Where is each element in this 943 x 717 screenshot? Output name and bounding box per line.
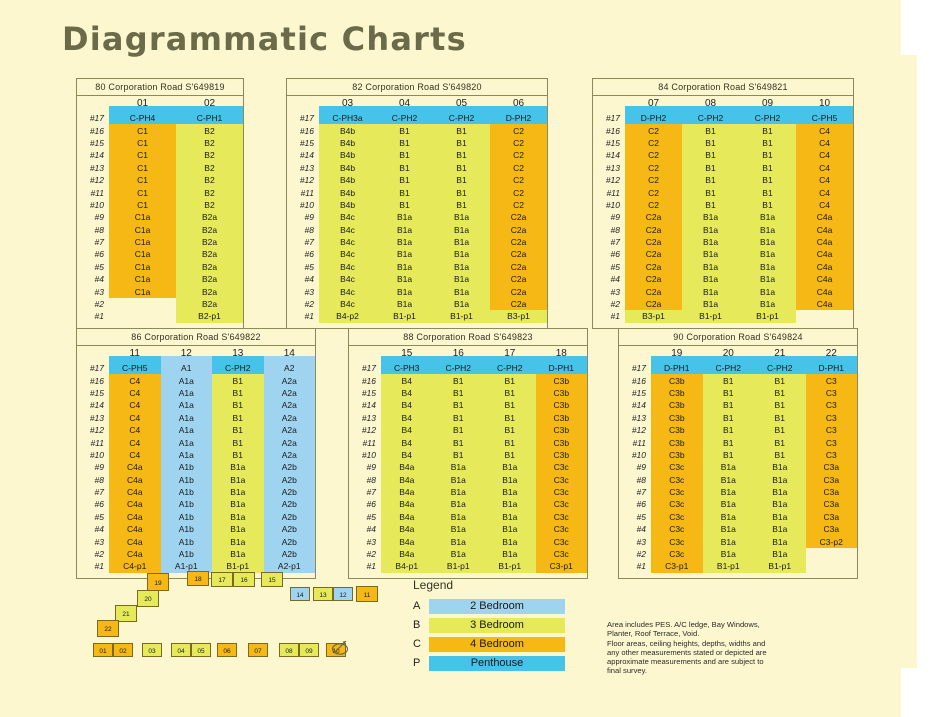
unit-cell[interactable]: B1a [682,236,739,248]
unit-cell[interactable]: B1 [484,375,536,387]
unit-cell[interactable]: A2b [264,536,316,548]
unit-cell[interactable]: B1a [682,286,739,298]
unit-cell[interactable]: B1a [376,236,433,248]
unit-cell[interactable]: B1-p1 [703,560,755,572]
unit-cell[interactable]: B1a [754,461,806,473]
unit-cell[interactable]: C3a [806,461,858,473]
unit-cell[interactable]: B2 [176,162,243,174]
unit-cell[interactable]: B4a [381,461,433,473]
unit-cell[interactable]: C1a [109,236,176,248]
unit-cell[interactable]: C2 [625,199,682,211]
unit-cell[interactable]: B1a [754,548,806,560]
unit-cell[interactable]: B1a [703,461,755,473]
unit-cell[interactable]: C4a [109,474,161,486]
unit-cell[interactable]: C2 [625,149,682,161]
unit-cell[interactable]: B1 [754,387,806,399]
unit-cell[interactable]: B4c [319,273,376,285]
unit-cell[interactable]: B1a [703,474,755,486]
unit-cell[interactable]: B1a [739,298,796,310]
unit-cell[interactable]: C4a [109,548,161,560]
unit-cell[interactable]: B1 [433,137,490,149]
unit-cell[interactable]: B1 [433,424,485,436]
unit-cell[interactable]: B4c [319,211,376,223]
site-plan-unit-17[interactable]: 17 [211,572,233,587]
unit-cell[interactable]: A1a [161,437,213,449]
unit-cell[interactable]: B4c [319,248,376,260]
unit-cell[interactable]: B1a [212,486,264,498]
unit-cell[interactable]: C4 [109,375,161,387]
unit-cell[interactable]: B1a [433,286,490,298]
unit-cell[interactable]: C4a [796,286,853,298]
unit-cell[interactable]: B1a [433,224,490,236]
unit-cell[interactable]: C2 [490,199,547,211]
unit-cell[interactable]: C3c [651,548,703,560]
unit-cell[interactable]: C4a [796,236,853,248]
unit-cell[interactable]: B1a [682,273,739,285]
unit-cell[interactable]: B1 [433,199,490,211]
unit-cell[interactable]: B1a [212,536,264,548]
unit-cell[interactable]: B1 [376,187,433,199]
unit-cell[interactable]: A1b [161,474,213,486]
unit-cell[interactable]: C3a [806,511,858,523]
unit-cell[interactable]: B4b [319,199,376,211]
unit-cell[interactable]: C4 [796,174,853,186]
site-plan-unit-04[interactable]: 04 [171,643,191,657]
unit-cell[interactable]: C2 [490,125,547,137]
unit-cell[interactable]: B1-p1 [376,310,433,322]
unit-cell[interactable]: B1a [484,548,536,560]
site-plan-unit-20[interactable]: 20 [137,590,159,607]
unit-cell[interactable]: B1-p1 [682,310,739,322]
unit-cell[interactable]: B1a [682,211,739,223]
unit-cell[interactable]: A2a [264,387,316,399]
unit-cell[interactable]: C4a [796,273,853,285]
unit-cell[interactable]: D-PH1 [651,362,703,374]
unit-cell[interactable]: A2-p1 [264,560,316,572]
unit-cell[interactable]: C3c [536,474,588,486]
unit-cell[interactable]: B4b [319,187,376,199]
unit-cell[interactable]: B1a [433,548,485,560]
unit-cell[interactable]: B1 [484,399,536,411]
unit-cell[interactable]: B1 [682,187,739,199]
unit-cell[interactable]: B1 [754,399,806,411]
unit-cell[interactable]: C4 [109,399,161,411]
unit-cell[interactable]: A2b [264,523,316,535]
unit-cell[interactable]: B1a [682,224,739,236]
unit-cell[interactable]: B1a [703,548,755,560]
unit-cell[interactable]: C2a [490,236,547,248]
site-plan-unit-07[interactable]: 07 [248,643,268,657]
unit-cell[interactable]: C4a [109,523,161,535]
unit-cell[interactable]: B2 [176,149,243,161]
unit-cell[interactable]: B1-p1 [739,310,796,322]
unit-cell[interactable]: A1a [161,449,213,461]
unit-cell[interactable]: B1a [212,523,264,535]
unit-cell[interactable]: B2 [176,137,243,149]
unit-cell[interactable]: B4-p2 [319,310,376,322]
unit-cell[interactable]: C4 [796,137,853,149]
unit-cell[interactable]: C-PH2 [376,112,433,124]
site-plan-unit-18[interactable]: 18 [187,571,209,586]
unit-cell[interactable]: B1a [739,248,796,260]
unit-cell[interactable]: C3b [536,424,588,436]
unit-cell[interactable]: B1a [739,224,796,236]
unit-cell[interactable]: C1a [109,248,176,260]
unit-cell[interactable]: B1 [212,387,264,399]
unit-cell[interactable]: B1 [212,375,264,387]
unit-cell[interactable]: C2a [625,211,682,223]
unit-cell[interactable]: A1a [161,399,213,411]
unit-cell[interactable]: C-PH2 [682,112,739,124]
unit-cell[interactable]: B1-p1 [433,560,485,572]
unit-cell[interactable]: B2 [176,187,243,199]
unit-cell[interactable]: B1a [433,498,485,510]
unit-cell[interactable]: B2a [176,224,243,236]
unit-cell[interactable]: B4-p1 [381,560,433,572]
unit-cell[interactable]: A1a [161,424,213,436]
unit-cell[interactable]: A2a [264,424,316,436]
unit-cell[interactable]: B1 [212,424,264,436]
unit-cell[interactable]: C-PH4 [109,112,176,124]
unit-cell[interactable]: C4a [796,211,853,223]
unit-cell[interactable]: C3-p1 [651,560,703,572]
unit-cell[interactable]: B1 [433,125,490,137]
unit-cell[interactable]: B2 [176,125,243,137]
unit-cell[interactable]: C3 [806,424,858,436]
unit-cell[interactable]: C-PH2 [739,112,796,124]
unit-cell[interactable]: C-PH5 [796,112,853,124]
unit-cell[interactable]: B1a [754,523,806,535]
unit-cell[interactable]: B1a [376,286,433,298]
unit-cell[interactable]: B1a [703,486,755,498]
site-plan-unit-11[interactable]: 11 [356,586,378,602]
unit-cell[interactable]: A2b [264,511,316,523]
unit-cell[interactable]: B1a [754,511,806,523]
unit-cell[interactable]: C3c [651,486,703,498]
unit-cell[interactable]: C3b [651,437,703,449]
unit-cell[interactable]: B4 [381,449,433,461]
unit-cell[interactable]: B2 [176,174,243,186]
unit-cell[interactable]: B1a [433,236,490,248]
unit-cell[interactable]: B1 [754,412,806,424]
unit-cell[interactable]: B2a [176,286,243,298]
unit-cell[interactable]: C-PH5 [109,362,161,374]
unit-cell[interactable]: B4a [381,548,433,560]
unit-cell[interactable]: B4 [381,375,433,387]
unit-cell[interactable]: C3c [651,536,703,548]
unit-cell[interactable]: B4b [319,149,376,161]
unit-cell[interactable]: C1a [109,286,176,298]
unit-cell[interactable]: B1 [212,437,264,449]
unit-cell[interactable]: B1a [212,498,264,510]
unit-cell[interactable]: C2a [625,224,682,236]
unit-cell[interactable]: B1a [739,211,796,223]
unit-cell[interactable]: B4a [381,498,433,510]
unit-cell[interactable]: B4c [319,261,376,273]
unit-cell[interactable]: B1 [433,187,490,199]
unit-cell[interactable]: C2a [490,248,547,260]
unit-cell[interactable]: C3 [806,375,858,387]
unit-cell[interactable]: C1 [109,137,176,149]
unit-cell[interactable]: C1a [109,261,176,273]
unit-cell[interactable]: B1 [376,199,433,211]
unit-cell[interactable]: C-PH2 [484,362,536,374]
unit-cell[interactable]: A1b [161,523,213,535]
unit-cell[interactable]: B1 [433,399,485,411]
unit-cell[interactable]: B4a [381,474,433,486]
unit-cell[interactable]: B1a [212,461,264,473]
unit-cell[interactable]: C-PH3a [319,112,376,124]
unit-cell[interactable]: C-PH2 [433,362,485,374]
unit-cell[interactable]: B1a [703,511,755,523]
unit-cell[interactable]: C3b [651,375,703,387]
unit-cell[interactable]: C2a [625,248,682,260]
unit-cell[interactable]: B1 [484,424,536,436]
unit-cell[interactable]: B1 [433,387,485,399]
unit-cell[interactable]: B4c [319,236,376,248]
unit-cell[interactable]: B1-p1 [212,560,264,572]
unit-cell[interactable]: C4 [109,424,161,436]
unit-cell[interactable]: C1 [109,187,176,199]
unit-cell[interactable]: C2a [625,286,682,298]
unit-cell[interactable]: B2-p1 [176,310,243,322]
unit-cell[interactable]: B1a [739,261,796,273]
unit-cell[interactable]: B1 [212,449,264,461]
unit-cell[interactable]: B1 [376,137,433,149]
unit-cell[interactable]: B3-p1 [490,310,547,322]
unit-cell[interactable]: B1 [682,137,739,149]
site-plan-unit-14[interactable]: 14 [290,587,310,601]
site-plan-unit-13[interactable]: 13 [313,587,333,601]
unit-cell[interactable]: C3b [536,437,588,449]
unit-cell[interactable]: B1 [703,449,755,461]
unit-cell[interactable]: B1a [433,486,485,498]
site-plan-unit-06[interactable]: 06 [217,643,237,657]
unit-cell[interactable]: C4 [109,387,161,399]
unit-cell[interactable]: B1a [433,211,490,223]
unit-cell[interactable]: B1 [739,174,796,186]
site-plan-unit-22[interactable]: 22 [97,620,119,637]
unit-cell[interactable]: C4a [109,498,161,510]
unit-cell[interactable]: C1a [109,273,176,285]
unit-cell[interactable]: A2b [264,461,316,473]
unit-cell[interactable]: B1a [433,273,490,285]
unit-cell[interactable]: B1 [433,449,485,461]
unit-cell[interactable]: B1 [703,399,755,411]
unit-cell[interactable]: C3c [651,461,703,473]
unit-cell[interactable]: A2a [264,375,316,387]
unit-cell[interactable]: C3 [806,399,858,411]
unit-cell[interactable]: C3a [806,474,858,486]
unit-cell[interactable]: C4a [109,461,161,473]
unit-cell[interactable]: B1a [484,536,536,548]
unit-cell[interactable]: A2a [264,412,316,424]
unit-cell[interactable]: C2a [490,211,547,223]
unit-cell[interactable]: B2a [176,261,243,273]
unit-cell[interactable]: A2a [264,449,316,461]
unit-cell[interactable]: C-PH3 [381,362,433,374]
unit-cell[interactable]: C4a [109,511,161,523]
unit-cell[interactable]: A1a [161,375,213,387]
unit-cell[interactable]: B1 [682,199,739,211]
unit-cell[interactable]: C4a [796,261,853,273]
unit-cell[interactable]: C4a [109,486,161,498]
unit-cell[interactable]: B1 [484,412,536,424]
unit-cell[interactable]: B4b [319,162,376,174]
unit-cell[interactable]: B4a [381,523,433,535]
unit-cell[interactable]: C2a [625,261,682,273]
unit-cell[interactable]: C4 [796,199,853,211]
unit-cell[interactable]: B1 [484,437,536,449]
unit-cell[interactable]: A2b [264,498,316,510]
unit-cell[interactable]: C2a [490,286,547,298]
unit-cell[interactable]: C3-p1 [536,560,588,572]
unit-cell[interactable]: C2 [625,174,682,186]
unit-cell[interactable]: C2 [490,187,547,199]
unit-cell[interactable]: C3c [536,536,588,548]
unit-cell[interactable]: C1a [109,211,176,223]
unit-cell[interactable]: B1a [376,248,433,260]
unit-cell[interactable]: C4 [109,449,161,461]
unit-cell[interactable]: B1 [703,437,755,449]
unit-cell[interactable]: A1-p1 [161,560,213,572]
unit-cell[interactable]: B1a [703,523,755,535]
unit-cell[interactable]: A1b [161,461,213,473]
unit-cell[interactable]: B1 [212,399,264,411]
unit-cell[interactable]: C4 [796,149,853,161]
unit-cell[interactable]: B1 [484,387,536,399]
unit-cell[interactable]: C3a [806,523,858,535]
unit-cell[interactable]: C2a [625,298,682,310]
unit-cell[interactable]: C2a [490,273,547,285]
unit-cell[interactable]: C4 [796,162,853,174]
unit-cell[interactable]: C3c [536,511,588,523]
unit-cell[interactable]: B4b [319,125,376,137]
unit-cell[interactable]: C3c [536,486,588,498]
unit-cell[interactable]: B4b [319,174,376,186]
unit-cell[interactable]: B1 [484,449,536,461]
unit-cell[interactable]: B1 [682,125,739,137]
unit-cell[interactable]: C3b [536,412,588,424]
unit-cell[interactable]: B2a [176,236,243,248]
unit-cell[interactable]: C3-p2 [806,536,858,548]
unit-cell[interactable]: B1a [433,298,490,310]
unit-cell[interactable]: C3b [651,424,703,436]
unit-cell[interactable]: B1a [376,273,433,285]
unit-cell[interactable]: C-PH2 [703,362,755,374]
unit-cell[interactable]: A2b [264,474,316,486]
unit-cell[interactable]: B1a [754,474,806,486]
unit-cell[interactable]: C3c [536,461,588,473]
unit-cell[interactable]: B4c [319,298,376,310]
unit-cell[interactable]: B4 [381,437,433,449]
site-plan-unit-09[interactable]: 09 [299,643,319,657]
unit-cell[interactable]: B1a [703,498,755,510]
unit-cell[interactable]: C3a [806,498,858,510]
unit-cell[interactable]: B1 [754,424,806,436]
site-plan-unit-12[interactable]: 12 [333,587,353,601]
unit-cell[interactable]: C3c [651,498,703,510]
unit-cell[interactable]: D-PH1 [536,362,588,374]
unit-cell[interactable]: B3-p1 [625,310,682,322]
unit-cell[interactable]: B1a [433,248,490,260]
unit-cell[interactable]: B4a [381,511,433,523]
unit-cell[interactable]: B1a [682,248,739,260]
unit-cell[interactable]: C3a [806,486,858,498]
unit-cell[interactable]: B1 [739,125,796,137]
unit-cell[interactable]: B4b [319,137,376,149]
unit-cell[interactable]: B2a [176,211,243,223]
unit-cell[interactable]: B4 [381,412,433,424]
unit-cell[interactable]: D-PH1 [806,362,858,374]
unit-cell[interactable]: A2a [264,399,316,411]
unit-cell[interactable]: B1a [484,511,536,523]
unit-cell[interactable]: B1 [376,149,433,161]
unit-cell[interactable]: B1a [433,461,485,473]
unit-cell[interactable]: B2 [176,199,243,211]
unit-cell[interactable]: C4 [796,125,853,137]
unit-cell[interactable]: A1b [161,536,213,548]
unit-cell[interactable]: C4 [109,412,161,424]
unit-cell[interactable]: B1 [754,375,806,387]
unit-cell[interactable]: B4a [381,486,433,498]
unit-cell[interactable]: B1a [376,224,433,236]
unit-cell[interactable]: B4c [319,224,376,236]
unit-cell[interactable]: B1a [212,511,264,523]
unit-cell[interactable]: C3b [651,399,703,411]
unit-cell[interactable]: B1a [754,498,806,510]
unit-cell[interactable]: A1b [161,511,213,523]
unit-cell[interactable]: C4a [796,248,853,260]
site-plan-unit-15[interactable]: 15 [261,572,283,587]
unit-cell[interactable]: C4a [109,536,161,548]
unit-cell[interactable]: B1 [376,174,433,186]
site-plan-unit-01[interactable]: 01 [93,643,113,657]
unit-cell[interactable]: D-PH2 [490,112,547,124]
unit-cell[interactable]: B1a [376,211,433,223]
unit-cell[interactable]: C3c [536,523,588,535]
unit-cell[interactable]: B1a [703,536,755,548]
unit-cell[interactable]: C1 [109,199,176,211]
unit-cell[interactable]: C3b [536,375,588,387]
unit-cell[interactable]: B1 [433,412,485,424]
unit-cell[interactable]: B1a [376,298,433,310]
unit-cell[interactable]: B1a [484,523,536,535]
unit-cell[interactable]: B2a [176,298,243,310]
unit-cell[interactable]: B1a [433,511,485,523]
unit-cell[interactable]: C2 [625,187,682,199]
unit-cell[interactable]: A1b [161,498,213,510]
unit-cell[interactable]: B1 [682,162,739,174]
unit-cell[interactable]: B1 [754,449,806,461]
unit-cell[interactable]: C3c [536,548,588,560]
unit-cell[interactable]: B1a [376,261,433,273]
unit-cell[interactable]: C2 [490,162,547,174]
unit-cell[interactable]: B1 [682,149,739,161]
site-plan-unit-05[interactable]: 05 [191,643,211,657]
unit-cell[interactable]: A1a [161,387,213,399]
unit-cell[interactable]: C3c [536,498,588,510]
unit-cell[interactable]: C3c [651,474,703,486]
unit-cell[interactable]: B2a [176,273,243,285]
unit-cell[interactable]: B1 [376,125,433,137]
unit-cell[interactable]: B1 [433,162,490,174]
unit-cell[interactable]: C1a [109,224,176,236]
unit-cell[interactable]: A1b [161,486,213,498]
unit-cell[interactable]: B1-p1 [754,560,806,572]
unit-cell[interactable]: C3 [806,412,858,424]
unit-cell[interactable]: B1a [212,548,264,560]
